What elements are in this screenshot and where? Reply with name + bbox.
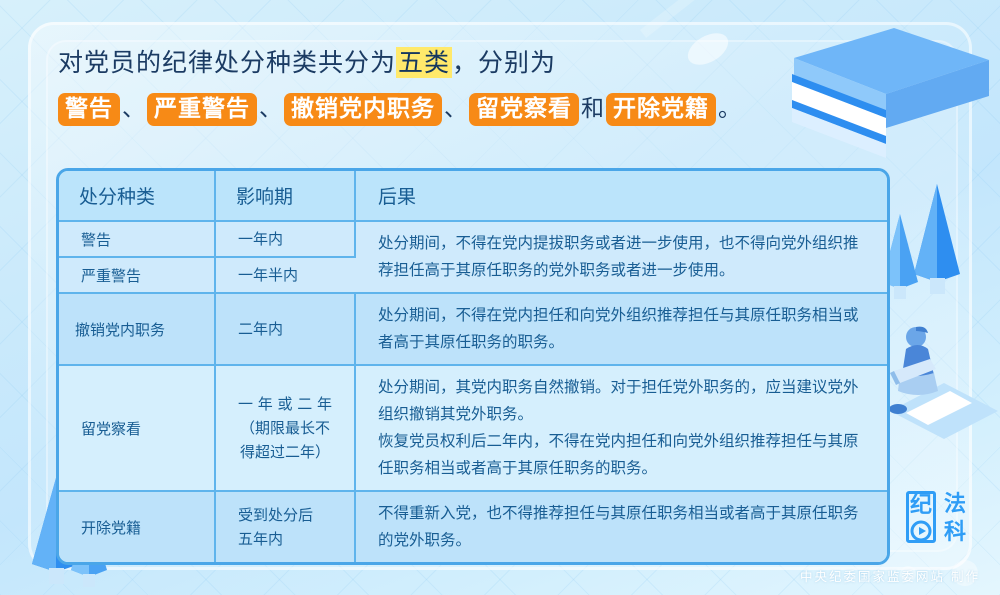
- discipline-table: 处分种类 影响期 后果 警告 一年内 处分期间，不得在党内提拔职务或者进一步使用…: [59, 171, 887, 562]
- table-header-row: 处分种类 影响期 后果: [59, 171, 887, 221]
- heading-text-after: ，分别为: [452, 48, 556, 77]
- table-row: 警告 一年内 处分期间，不得在党内提拔职务或者进一步使用，也不得向党外组织推荐担…: [59, 221, 887, 257]
- tag-expulsion: 开除党籍: [606, 93, 716, 126]
- tag-revoke-party-post: 撤销党内职务: [284, 93, 442, 126]
- cell-result-warning-merged: 处分期间，不得在党内提拔职务或者进一步使用，也不得向党外组织推荐担任高于其原任职…: [355, 221, 887, 293]
- column-header-period: 影响期: [215, 171, 355, 221]
- table-header: 处分种类 影响期 后果: [59, 171, 887, 221]
- infographic-poster: 对党员的纪律处分种类共分为五类，分别为 警告、严重警告、撤销党内职务、留党察看和…: [0, 0, 1000, 595]
- cell-period-probation: 一 年 或 二 年 （期限最长不 得超过二年）: [215, 365, 355, 491]
- period-line-2: （期限最长不: [216, 416, 354, 440]
- logo-char-fa: 法: [944, 493, 966, 515]
- column-header-result: 后果: [355, 171, 887, 221]
- result-paragraph-2: 恢复党员权利后二年内，不得在党内担任和向党外组织推荐担任与其原任职务相当或者高于…: [378, 428, 873, 482]
- person-laptop-icon: [880, 325, 998, 460]
- discipline-table-container: 处分种类 影响期 后果 警告 一年内 处分期间，不得在党内提拔职务或者进一步使用…: [56, 168, 890, 565]
- heading-highlight-wulei: 五类: [396, 47, 452, 78]
- table-row: 开除党籍 受到处分后 五年内 不得重新入党，也不得推荐担任与其原任职务相当或者高…: [59, 491, 887, 562]
- person-with-laptop-illustration: [880, 325, 998, 460]
- table-body: 警告 一年内 处分期间，不得在党内提拔职务或者进一步使用，也不得向党外组织推荐担…: [59, 221, 887, 562]
- table-row: 留党察看 一 年 或 二 年 （期限最长不 得超过二年） 处分期间，其党内职务自…: [59, 365, 887, 491]
- period-line-1: 受到处分后: [238, 503, 353, 527]
- period-line-3: 得超过二年）: [216, 440, 354, 464]
- heading-line-2: 警告、严重警告、撤销党内职务、留党察看和开除党籍。: [58, 92, 878, 126]
- logo-char-ji: 纪: [910, 494, 932, 516]
- cell-period-serious-warning: 一年半内: [215, 257, 355, 293]
- cell-kind-expulsion: 开除党籍: [59, 491, 215, 562]
- result-paragraph-1: 处分期间，其党内职务自然撤销。对于担任党外职务的，应当建议党外组织撤销其党外职务…: [378, 374, 873, 428]
- heading-block: 对党员的纪律处分种类共分为五类，分别为 警告、严重警告、撤销党内职务、留党察看和…: [58, 46, 878, 126]
- period-line-1: 一 年 或 二 年: [216, 392, 354, 416]
- period-line-2: 五年内: [238, 527, 353, 551]
- brand-logo: 纪 法 科: [906, 491, 980, 547]
- separator-he: 和: [579, 92, 606, 126]
- cell-result-probation: 处分期间，其党内职务自然撤销。对于担任党外职务的，应当建议党外组织撤销其党外职务…: [355, 365, 887, 491]
- cell-kind-probation: 留党察看: [59, 365, 215, 491]
- footer-credit: 中央纪委国家监委网站 制作: [800, 566, 980, 585]
- cell-period-expulsion: 受到处分后 五年内: [215, 491, 355, 562]
- cell-kind-serious-warning: 严重警告: [59, 257, 215, 293]
- cell-kind-revoke-post: 撤销党内职务: [59, 293, 215, 365]
- separator-3: 、: [442, 92, 469, 126]
- heading-text-before: 对党员的纪律处分种类共分为: [58, 48, 396, 77]
- heading-line-1: 对党员的纪律处分种类共分为五类，分别为: [58, 46, 878, 80]
- logo-char-ke: 科: [944, 521, 966, 543]
- cell-period-revoke-post: 二年内: [215, 293, 355, 365]
- column-header-kind: 处分种类: [59, 171, 215, 221]
- cell-kind-warning: 警告: [59, 221, 215, 257]
- separator-2: 、: [257, 92, 284, 126]
- separator-period: 。: [716, 92, 743, 126]
- cell-result-revoke-post: 处分期间，不得在党内担任和向党外组织推荐担任与其原任职务相当或者高于其原任职务的…: [355, 293, 887, 365]
- play-circle-icon: [910, 520, 932, 542]
- cell-result-expulsion: 不得重新入党，也不得推荐担任与其原任职务相当或者高于其原任职务的党外职务。: [355, 491, 887, 562]
- cell-period-warning: 一年内: [215, 221, 355, 257]
- table-row: 撤销党内职务 二年内 处分期间，不得在党内担任和向党外组织推荐担任与其原任职务相…: [59, 293, 887, 365]
- tag-warning: 警告: [58, 93, 120, 126]
- separator-1: 、: [120, 92, 147, 126]
- tag-probation: 留党察看: [469, 93, 579, 126]
- tag-serious-warning: 严重警告: [147, 93, 257, 126]
